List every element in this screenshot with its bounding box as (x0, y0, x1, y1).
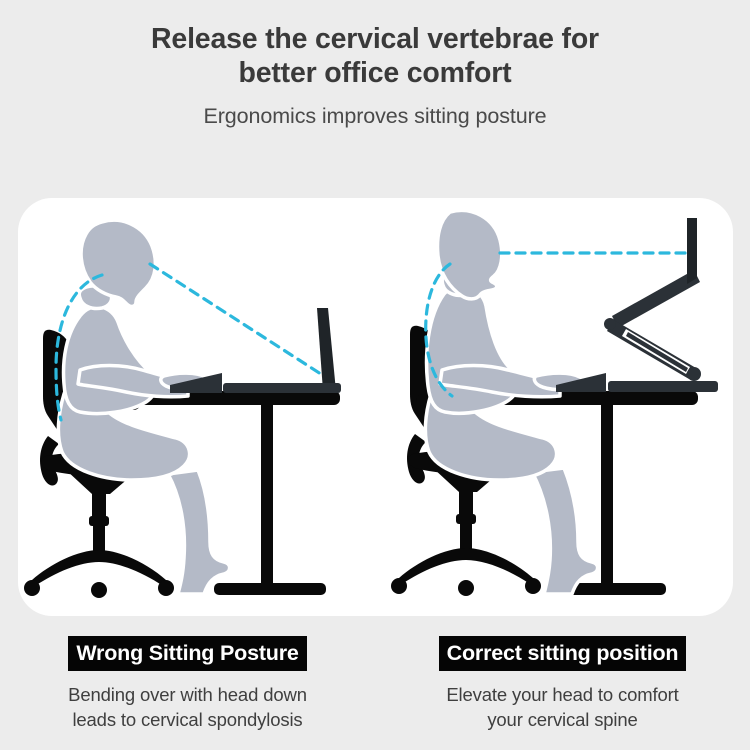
caption-text-correct-posture: Elevate your head to comfort your cervic… (375, 682, 750, 732)
correct-posture-illustration (376, 198, 733, 616)
status-badge-wrong-posture: Wrong Sitting Posture (68, 636, 306, 671)
caption-wrong-posture: Wrong Sitting Posture Bending over with … (0, 636, 375, 732)
person-figure (58, 220, 229, 594)
header: Release the cervical vertebrae for bette… (0, 0, 750, 129)
page-subtitle: Ergonomics improves sitting posture (0, 103, 750, 129)
illustration-card (18, 198, 733, 616)
wrong-posture-illustration (18, 198, 375, 616)
wrong-posture-svg (18, 198, 375, 616)
captions-row: Wrong Sitting Posture Bending over with … (0, 636, 750, 750)
page-title: Release the cervical vertebrae for bette… (75, 22, 675, 90)
caption-text-wrong-posture: Bending over with head down leads to cer… (0, 682, 375, 732)
page-title-line-1: Release the cervical vertebrae for (75, 22, 675, 56)
correct-posture-svg (376, 198, 733, 616)
laptop-stand-device (556, 218, 718, 392)
gaze-line (150, 264, 324, 376)
page-title-line-2: better office comfort (75, 56, 675, 90)
caption-correct-posture: Correct sitting position Elevate your he… (375, 636, 750, 732)
laptop-device (170, 308, 341, 393)
status-badge-correct-posture: Correct sitting position (439, 636, 687, 671)
poster-root: Release the cervical vertebrae for bette… (0, 0, 750, 750)
